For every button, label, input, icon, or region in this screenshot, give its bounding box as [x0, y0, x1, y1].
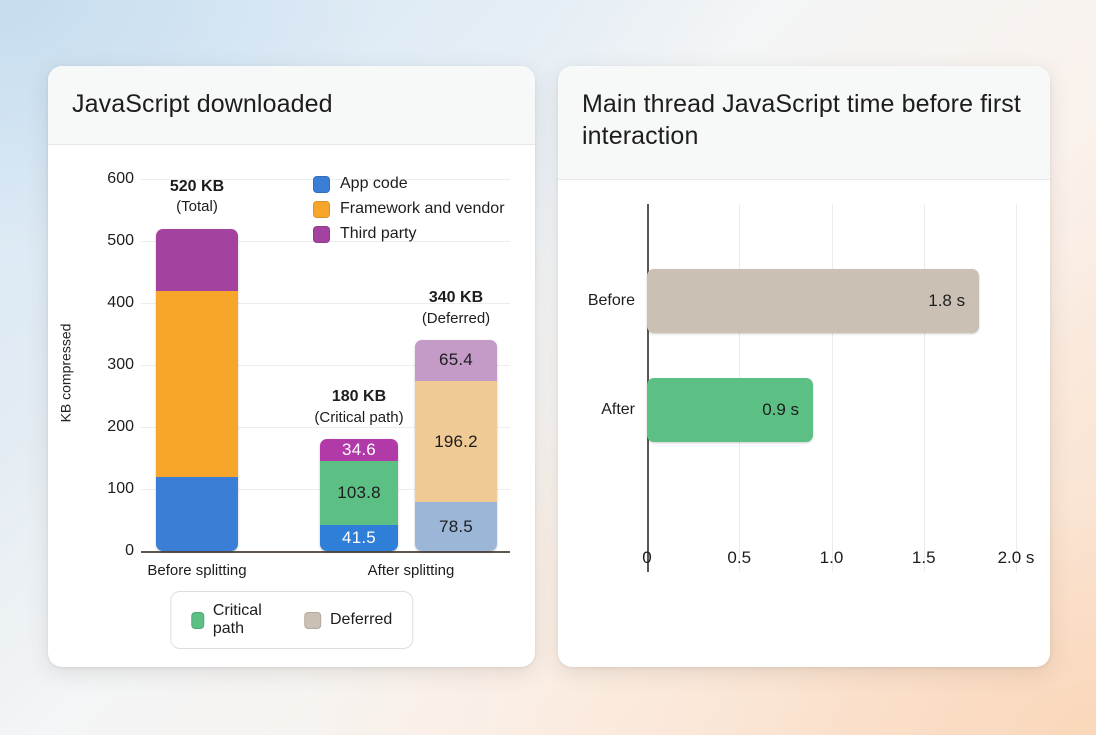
bar-segment: [156, 229, 238, 291]
legend-label: Third party: [340, 225, 416, 243]
legend-swatch-icon: [313, 176, 330, 193]
x-axis-tick: 1.0: [820, 548, 844, 568]
y-axis-tick: 300: [86, 356, 134, 374]
bar-before[interactable]: 1.8 s: [647, 269, 979, 333]
bottom-legend-item[interactable]: Deferred: [304, 611, 392, 629]
left-card-header: JavaScript downloaded: [48, 66, 535, 145]
bar-segment: 65.4: [415, 340, 497, 381]
horizontal-bar-chart: 00.51.01.52.0 s1.8 sBefore0.9 sAfter: [558, 180, 1050, 667]
y-axis-tick: 0: [86, 542, 134, 560]
bar-total-label: 180 KB(Critical path): [284, 387, 434, 427]
x-axis-tick: 0.5: [727, 548, 751, 568]
y-axis-tick: 500: [86, 232, 134, 250]
y-axis-tick: 400: [86, 294, 134, 312]
legend-item[interactable]: App code: [313, 175, 505, 193]
bar-total-value: 520 KB: [120, 177, 274, 198]
bar-total-value: 340 KB: [379, 288, 533, 309]
bottom-legend: Critical pathDeferred: [170, 591, 414, 649]
bar-segment: 34.6: [320, 439, 398, 460]
x-axis-line: [141, 551, 510, 553]
legend-label: Framework and vendor: [340, 200, 505, 218]
bar-segment: [156, 291, 238, 477]
bar-segment: 103.8: [320, 461, 398, 525]
legend-swatch-icon: [313, 201, 330, 218]
x-axis-category-label: After splitting: [338, 562, 484, 579]
gridline: [924, 204, 925, 572]
legend-label: Deferred: [330, 611, 392, 629]
bar-total-label: 520 KB(Total): [120, 177, 274, 217]
bar-total[interactable]: [156, 229, 238, 551]
bar-total-caption: (Total): [176, 198, 218, 215]
bar-after[interactable]: 0.9 s: [647, 378, 813, 442]
x-axis-tick: 0: [642, 548, 651, 568]
legend-item[interactable]: Third party: [313, 225, 505, 243]
bar-value-label: 1.8 s: [928, 291, 979, 311]
gridline: [832, 204, 833, 572]
right-page-title: Main thread JavaScript time before first…: [582, 88, 1026, 152]
x-axis-tick: 2.0 s: [998, 548, 1035, 568]
legend-label: Critical path: [213, 602, 278, 638]
card-javascript-downloaded: JavaScript downloaded KB compressed01002…: [48, 66, 535, 667]
legend-swatch-icon: [191, 612, 204, 629]
bar-segment: 41.5: [320, 525, 398, 551]
bar-total-caption: (Deferred): [422, 310, 490, 327]
bar-segment: [156, 477, 238, 551]
gridline: [1016, 204, 1017, 572]
y-axis-title: KB compressed: [57, 324, 73, 423]
page-title: JavaScript downloaded: [72, 88, 511, 120]
report-board: JavaScript downloaded KB compressed01002…: [0, 0, 1096, 735]
x-axis-tick: 1.5: [912, 548, 936, 568]
bar-deferred[interactable]: 65.4196.278.5: [415, 340, 497, 551]
y-axis-tick: 100: [86, 480, 134, 498]
right-card-header: Main thread JavaScript time before first…: [558, 66, 1050, 180]
bar-total-value: 180 KB: [284, 387, 434, 408]
card-main-thread-time: Main thread JavaScript time before first…: [558, 66, 1050, 667]
bar-segment: 78.5: [415, 502, 497, 551]
bar-segment: 196.2: [415, 381, 497, 503]
legend-item[interactable]: Framework and vendor: [313, 200, 505, 218]
bar-value-label: 0.9 s: [762, 400, 813, 420]
series-legend: App codeFramework and vendorThird party: [313, 175, 505, 243]
legend-label: App code: [340, 175, 408, 193]
legend-swatch-icon: [304, 612, 321, 629]
bar-total-caption: (Critical path): [314, 409, 403, 426]
y-axis-tick: 200: [86, 418, 134, 436]
x-axis-category-label: Before splitting: [126, 562, 268, 579]
y-axis-category-label: After: [558, 401, 635, 419]
bottom-legend-item[interactable]: Critical path: [191, 602, 278, 638]
legend-swatch-icon: [313, 226, 330, 243]
y-axis-category-label: Before: [558, 292, 635, 310]
bar-total-label: 340 KB(Deferred): [379, 288, 533, 328]
bar-critical-path[interactable]: 34.6103.841.5: [320, 439, 398, 551]
stacked-bar-chart: KB compressed0100200300400500600520 KB(T…: [48, 145, 535, 667]
